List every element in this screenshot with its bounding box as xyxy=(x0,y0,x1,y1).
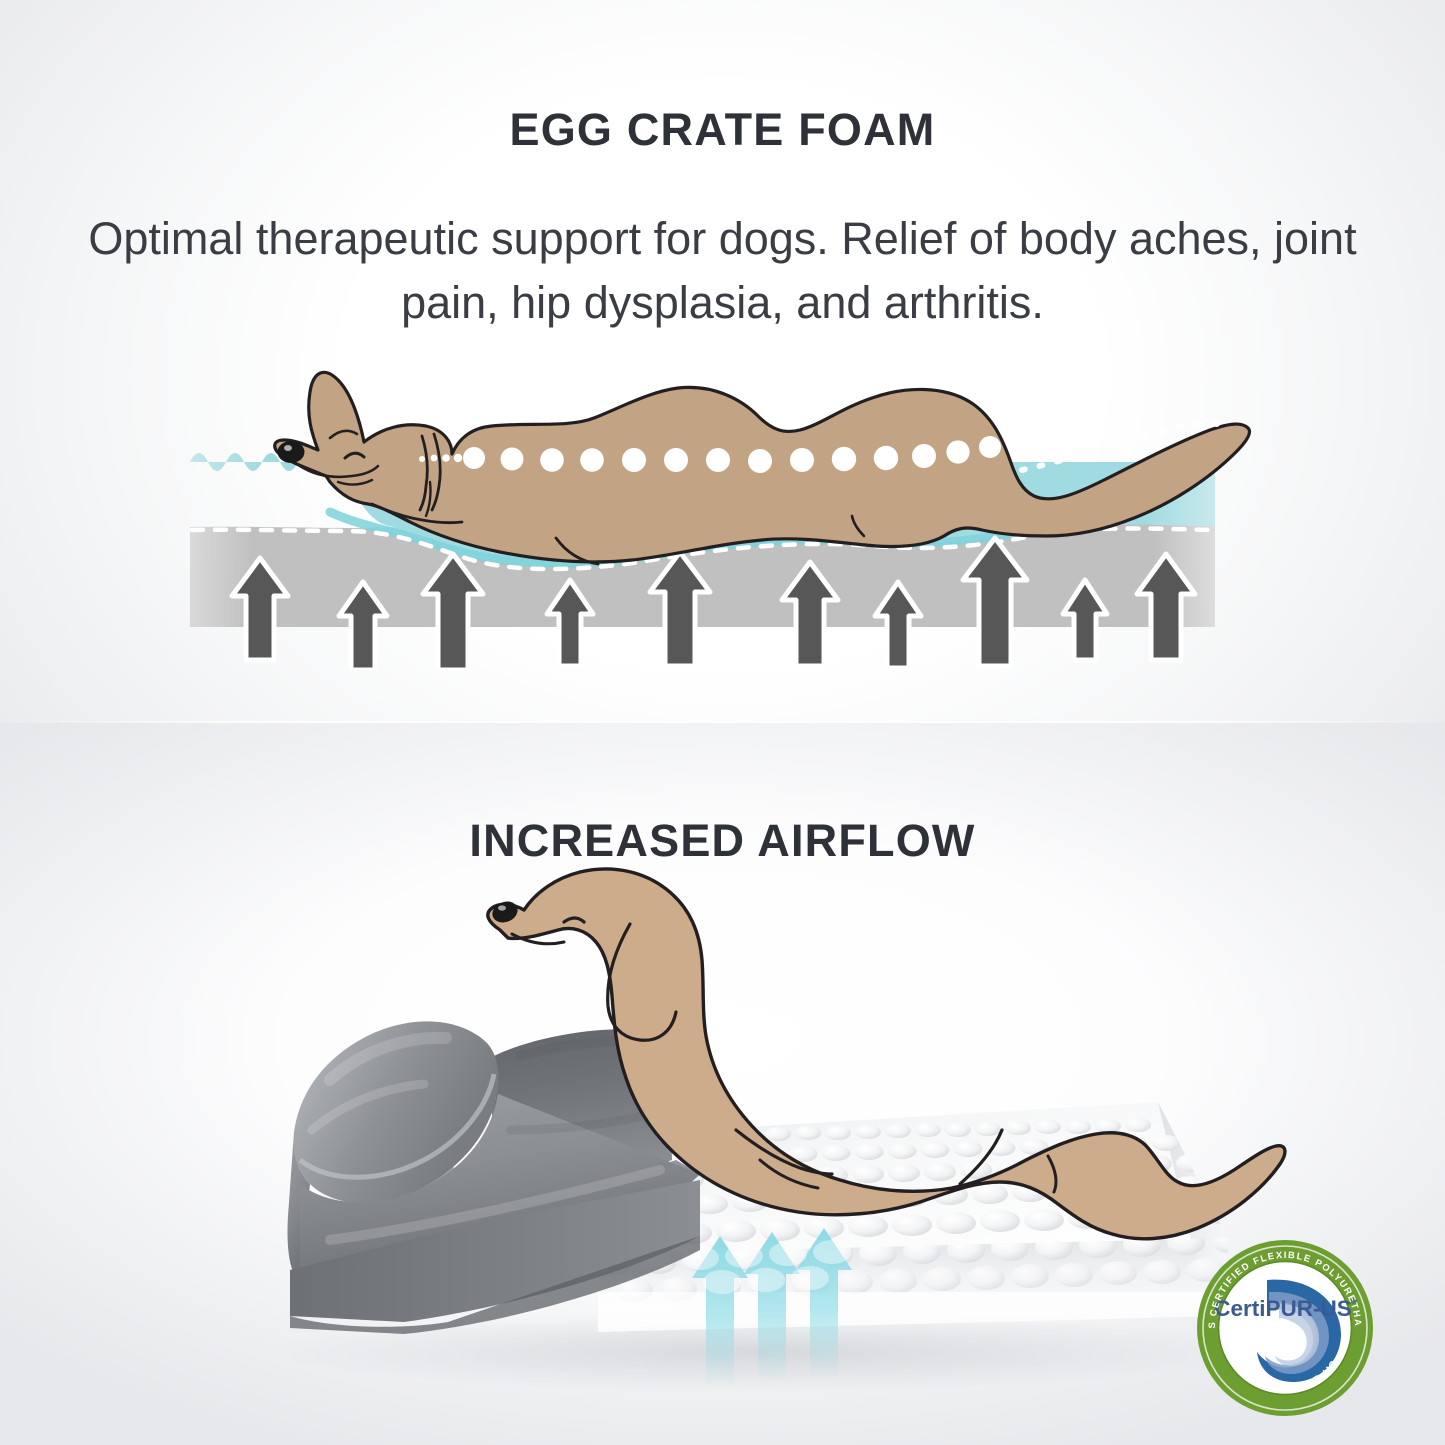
panel-divider xyxy=(0,721,1445,723)
dog-nose xyxy=(278,441,305,463)
cyan-airflow-arrows xyxy=(681,1228,852,1386)
badge-brand-text: CertiPUR-US xyxy=(1214,1296,1352,1321)
certipur-us-certification-seal: CertiPUR-US ® CONTAINS CERTIFIED FLEXIBL… xyxy=(1195,1238,1375,1418)
cross-section-diagram xyxy=(0,330,1445,670)
subtitle-benefits-text: Optimal therapeutic support for dogs. Re… xyxy=(50,207,1395,335)
dog-nose-highlight xyxy=(498,905,506,910)
cross-section-svg xyxy=(0,330,1445,670)
dog-nose-highlight xyxy=(284,445,292,451)
panel-egg-crate-foam: EGG CRATE FOAM Optimal therapeutic suppo… xyxy=(0,0,1445,722)
infographic-page: EGG CRATE FOAM Optimal therapeutic suppo… xyxy=(0,0,1445,1445)
page-title-egg-crate-foam: EGG CRATE FOAM xyxy=(0,104,1445,156)
